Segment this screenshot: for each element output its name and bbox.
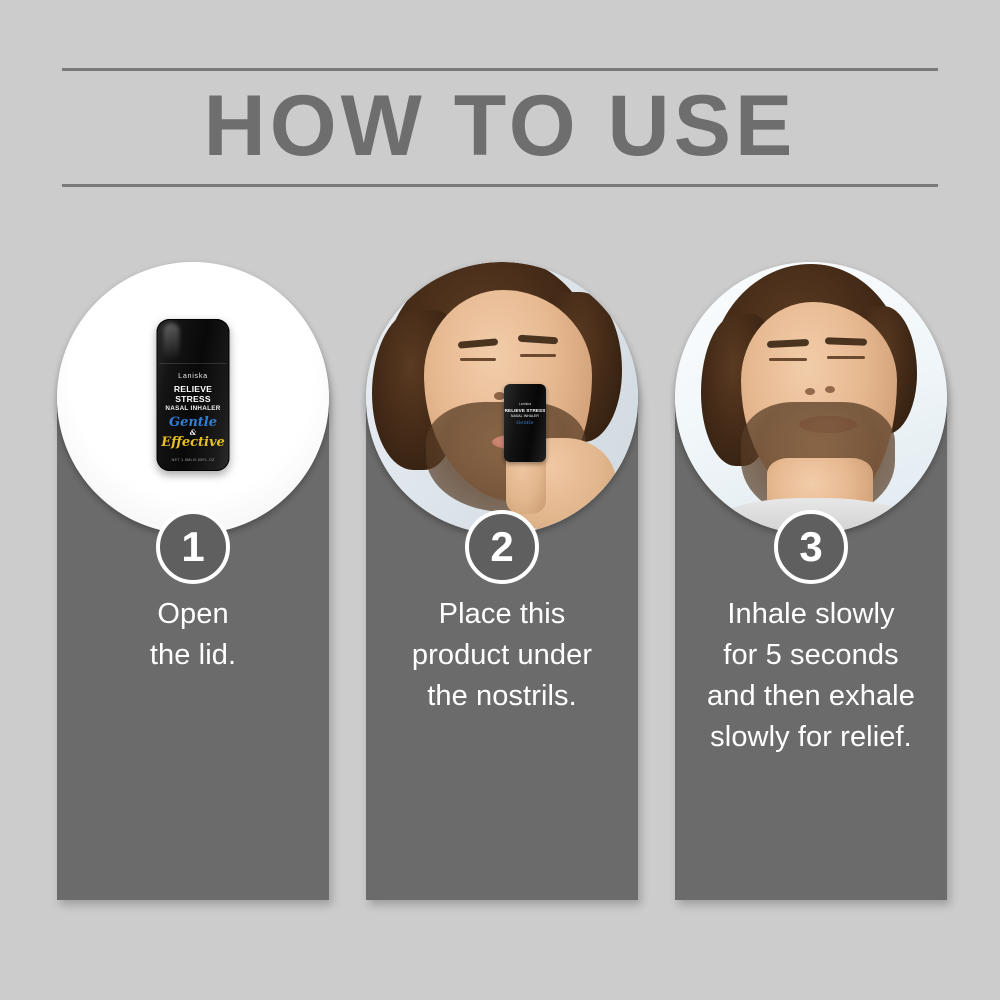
bottle-product-type: NASAL INHALER <box>157 405 230 412</box>
nostril-left <box>805 388 815 395</box>
step-caption-1: Open the lid. <box>61 594 325 676</box>
step-caption-line: Inhale slowly <box>679 594 943 635</box>
inhaler-in-hand: Laniska RELIEVE STRESS NASAL INHALER Gen… <box>504 384 546 462</box>
step-caption-2: Place this product under the nostrils. <box>370 594 634 717</box>
step-card-3[interactable]: 3 Inhale slowly for 5 seconds and then e… <box>675 272 947 900</box>
eye-left-closed <box>460 358 496 361</box>
man-inhaling-photo <box>675 262 947 534</box>
step-caption-line: the nostrils. <box>370 676 634 717</box>
bottle-label: Laniska RELIEVE STRESS NASAL INHALER Gen… <box>157 371 230 462</box>
mini-bottle-tagline: Gentle <box>504 420 546 426</box>
eyebrow-right <box>825 337 867 345</box>
mini-bottle-type: NASAL INHALER <box>504 414 546 418</box>
steps-container: Laniska RELIEVE STRESS NASAL INHALER Gen… <box>0 0 1000 1000</box>
step-number-badge-1: 1 <box>156 510 230 584</box>
step-caption-line: for 5 seconds <box>679 635 943 676</box>
bottle-tagline-effective: Effective <box>157 436 230 449</box>
product-bottle-photo: Laniska RELIEVE STRESS NASAL INHALER Gen… <box>57 262 329 534</box>
inhaler-bottle: Laniska RELIEVE STRESS NASAL INHALER Gen… <box>157 319 230 471</box>
step-caption-line: product under <box>370 635 634 676</box>
bottle-brand: Laniska <box>157 371 230 380</box>
step-caption-3: Inhale slowly for 5 seconds and then exh… <box>679 594 943 758</box>
eye-right-closed <box>520 354 556 357</box>
nostril-right <box>825 386 835 393</box>
man-holding-inhaler-photo: Laniska RELIEVE STRESS NASAL INHALER Gen… <box>366 262 638 534</box>
step-number-badge-3: 3 <box>774 510 848 584</box>
step-number-badge-2: 2 <box>465 510 539 584</box>
step-card-1[interactable]: Laniska RELIEVE STRESS NASAL INHALER Gen… <box>57 272 329 900</box>
eye-right-closed <box>827 356 865 359</box>
step-caption-line: Place this <box>370 594 634 635</box>
eye-left-closed <box>769 358 807 361</box>
mini-bottle-brand: Laniska <box>504 402 546 406</box>
mini-bottle-name: RELIEVE STRESS <box>504 408 546 413</box>
bottle-product-name: RELIEVE STRESS <box>157 384 230 404</box>
step-caption-line: and then exhale <box>679 676 943 717</box>
step-caption-line: the lid. <box>61 635 325 676</box>
step-caption-line: slowly for relief. <box>679 717 943 758</box>
step-caption-line: Open <box>61 594 325 635</box>
step-card-2[interactable]: Laniska RELIEVE STRESS NASAL INHALER Gen… <box>366 272 638 900</box>
bottle-net-volume: NET 1.5ML/0.05FL.OZ <box>157 457 230 462</box>
